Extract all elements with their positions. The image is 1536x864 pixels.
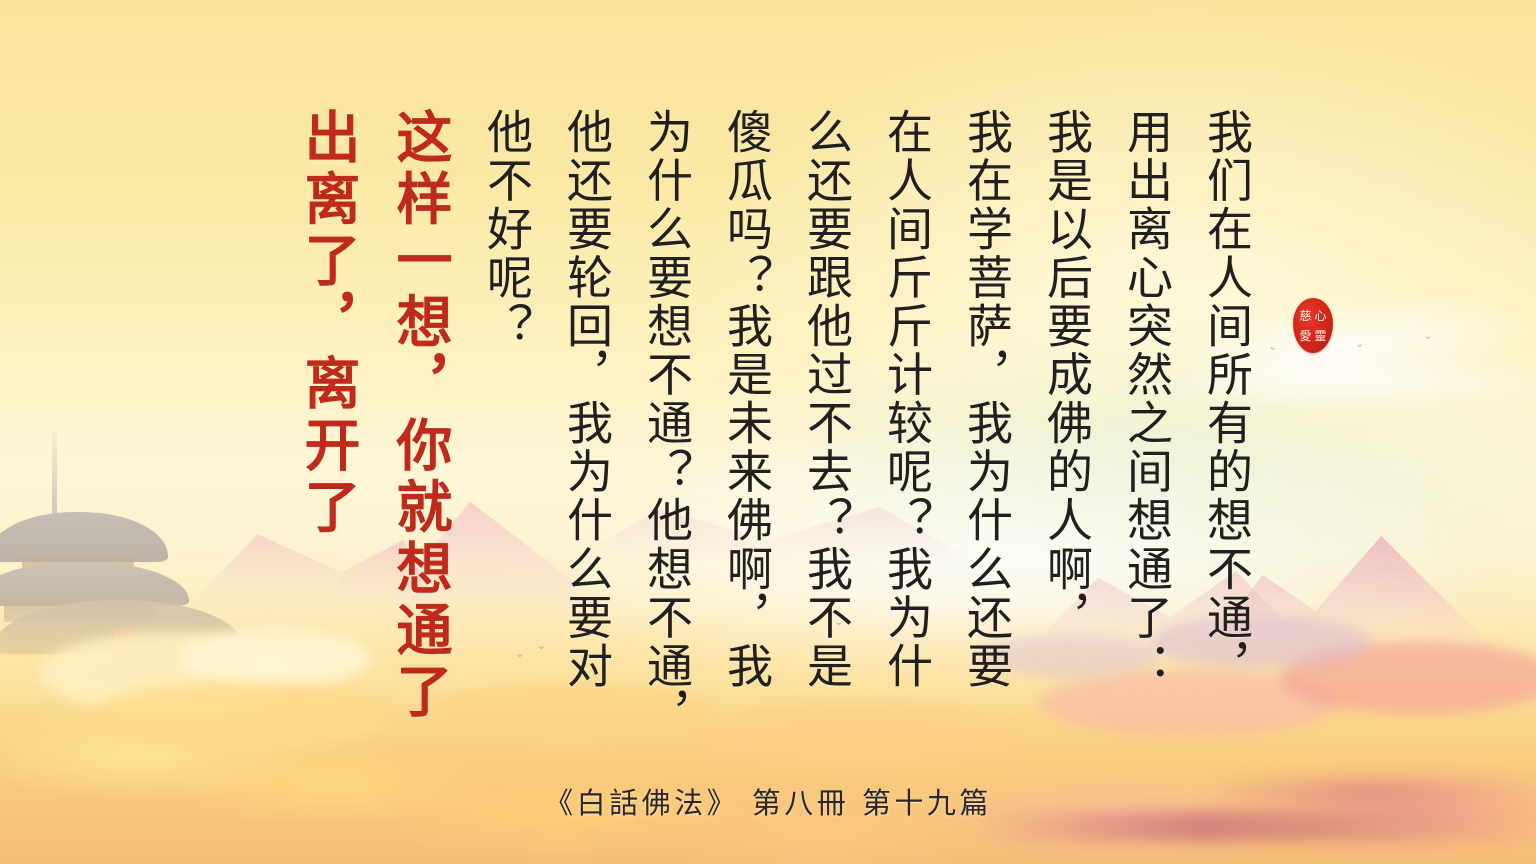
vertical-text-block: 我们在人间所有的想不通， 用出离心突然之间想通了： 我是以后要成佛的人啊， 我在… <box>0 0 1536 864</box>
text-column-6: 么还要跟他过不去？我不是 <box>804 108 850 690</box>
highlight-column-2: 出离了，离开了 <box>300 108 356 539</box>
text-column-4: 我在学菩萨，我为什么还要 <box>964 108 1010 690</box>
text-column-2: 用出离心突然之间想通了： <box>1124 108 1170 690</box>
text-column-8: 为什么要想不通？他想不通， <box>644 108 690 739</box>
seal-char-4: 靈 <box>1313 326 1328 346</box>
text-column-1: 我们在人间所有的想不通， <box>1204 108 1250 690</box>
text-column-5: 在人间斤斤计较呢？我为什 <box>884 108 930 690</box>
seal-char-3: 愛 <box>1298 326 1313 346</box>
poster-canvas: ⌄ ⌄ ⌄ ⌄ ⌄ ⌄ ⌄ 我们在人间所有的想不通， 用出离心突然之间想通了： … <box>0 0 1536 864</box>
seal-characters: 慈 心 愛 靈 <box>1298 306 1328 346</box>
seal-stamp: 慈 心 愛 靈 <box>1293 298 1333 353</box>
seal-char-2: 心 <box>1313 306 1328 326</box>
text-column-7: 傻瓜吗？我是未来佛啊，我 <box>724 108 770 690</box>
highlight-column-1: 这样一想，你就想通了 <box>392 108 448 724</box>
text-column-10: 他不好呢？ <box>484 108 530 351</box>
text-column-3: 我是以后要成佛的人啊， <box>1044 108 1090 642</box>
seal-char-1: 慈 <box>1298 306 1313 326</box>
text-column-9: 他还要轮回，我为什么要对 <box>564 108 610 690</box>
source-caption: 《白話佛法》 第八冊 第十九篇 <box>0 780 1536 822</box>
